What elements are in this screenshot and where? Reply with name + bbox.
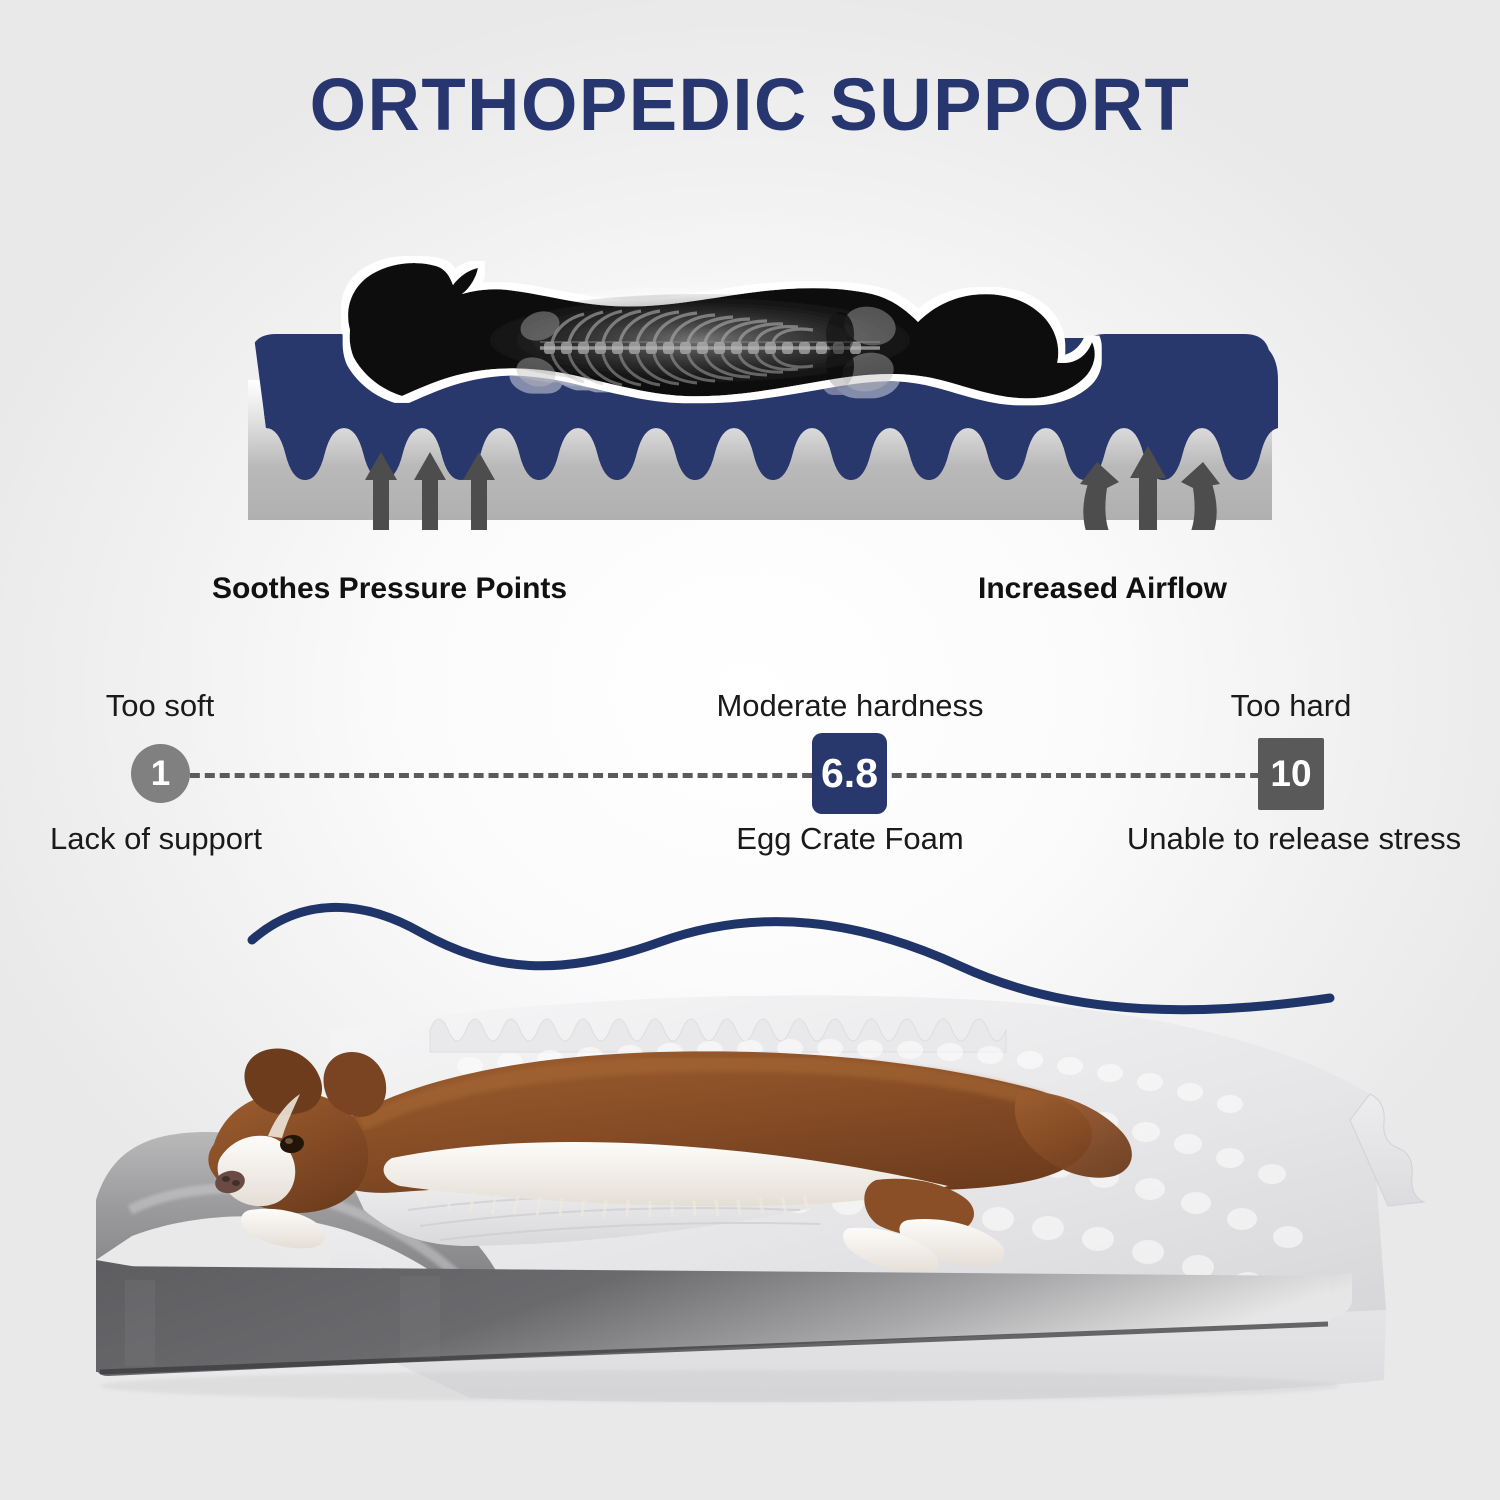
hardness-scale: Too soft Moderate hardness Too hard 1 6.…	[0, 680, 1500, 870]
scale-label-bottom-unable-to-release-stress: Unable to release stress	[1127, 821, 1461, 857]
scale-label-bottom-lack-of-support: Lack of support	[50, 821, 262, 857]
scale-node-too-hard[interactable]: 10	[1258, 738, 1324, 810]
foam-cross-section-diagram	[240, 230, 1280, 530]
page-title: ORTHOPEDIC SUPPORT	[15, 62, 1485, 147]
pressure-arrows-group	[365, 452, 495, 530]
caption-increased-airflow: Increased Airflow	[978, 572, 1227, 606]
scale-node-moderate-hardness[interactable]: 6.8	[812, 733, 887, 814]
scale-label-top-too-hard: Too hard	[1231, 688, 1352, 724]
caption-soothes-pressure-points: Soothes Pressure Points	[212, 572, 567, 606]
scale-label-bottom-egg-crate-foam: Egg Crate Foam	[736, 821, 963, 857]
scale-label-top-too-soft: Too soft	[106, 688, 215, 724]
spine-alignment-curve	[252, 907, 1330, 1009]
infographic-page: ORTHOPEDIC SUPPORT	[0, 0, 1500, 1500]
scale-label-top-moderate-hardness: Moderate hardness	[716, 688, 983, 724]
scale-dashed-line	[160, 773, 1290, 778]
product-photo	[0, 880, 1500, 1500]
scale-node-too-soft[interactable]: 1	[131, 744, 190, 803]
